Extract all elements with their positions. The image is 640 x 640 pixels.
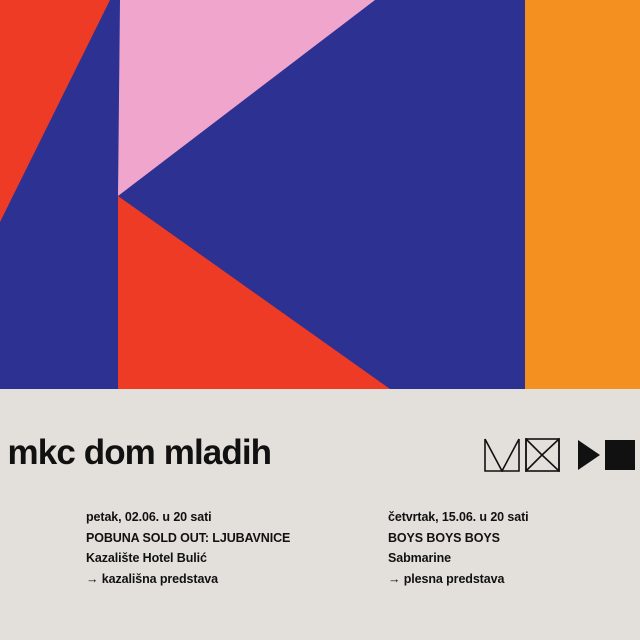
logo-m-vee-icon xyxy=(485,439,519,471)
square-stop-icon xyxy=(605,440,635,470)
column-gap xyxy=(236,507,388,589)
column-gap xyxy=(538,507,640,589)
event-date: petak, 02.06. u 20 sati xyxy=(86,507,236,528)
logo-m-outline-icon xyxy=(485,439,519,471)
mkc-logo-svg xyxy=(484,438,560,472)
logo-lockup[interactable] xyxy=(484,438,640,472)
event-listing: ati ples petak, 02.06. u 20 sati POBUNA … xyxy=(0,507,640,589)
logo-k-triangle-a-icon xyxy=(526,439,542,471)
event-item-1[interactable]: petak, 02.06. u 20 sati POBUNA SOLD OUT:… xyxy=(86,507,236,589)
event-date: četvrtak, 15.06. u 20 sati xyxy=(388,507,538,528)
event-performer: Sabmarine xyxy=(388,548,538,569)
event-date: ati xyxy=(0,507,86,528)
logo-k-triangle-b-icon xyxy=(542,439,559,471)
event-category: → plesna predstava xyxy=(388,569,538,590)
page-title: r mkc dom mladih xyxy=(0,433,271,473)
poster: r mkc dom mladih xyxy=(0,0,640,640)
event-item-0[interactable]: ati ples xyxy=(0,507,86,589)
mkc-logo-icon[interactable] xyxy=(484,438,560,472)
triangle-play-icon xyxy=(578,440,600,470)
event-performer: Kazalište Hotel Bulić xyxy=(86,548,236,569)
event-title: BOYS BOYS BOYS xyxy=(388,528,538,549)
play-stop-svg xyxy=(578,438,640,472)
event-title: POBUNA SOLD OUT: LJUBAVNICE xyxy=(86,528,236,549)
play-stop-icon[interactable] xyxy=(578,438,640,472)
info-panel: r mkc dom mladih xyxy=(0,389,640,640)
artwork-svg xyxy=(0,0,640,389)
event-item-2[interactable]: četvrtak, 15.06. u 20 sati BOYS BOYS BOY… xyxy=(388,507,538,589)
event-category: → kazališna predstava xyxy=(86,569,236,590)
artwork-geometric-composition xyxy=(0,0,640,389)
shape-orange-column xyxy=(525,0,640,389)
event-performer: ples xyxy=(0,528,86,549)
